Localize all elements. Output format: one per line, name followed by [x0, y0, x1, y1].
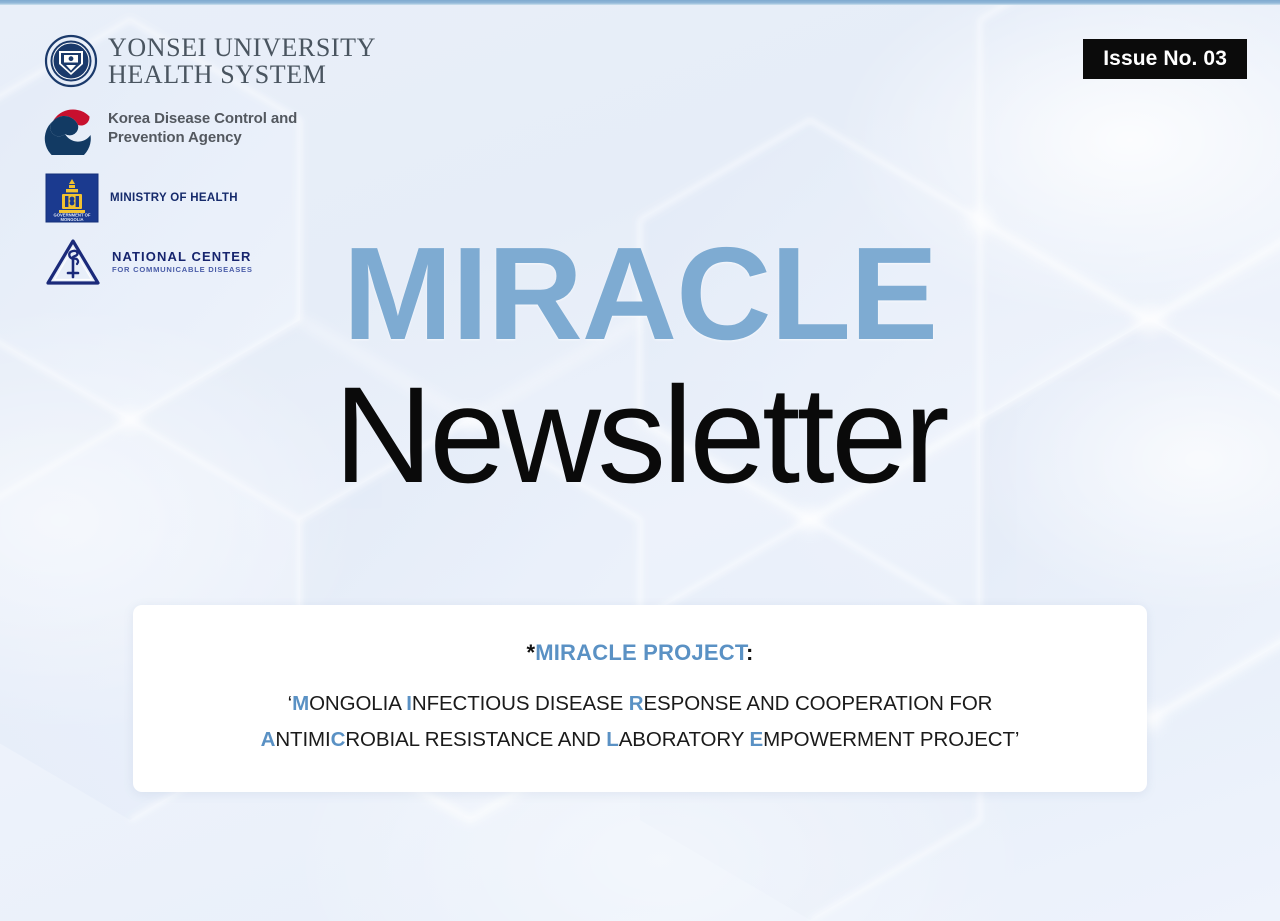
yonsei-line-2: HEALTH SYSTEM	[108, 60, 326, 89]
svg-text:MONGOLIA: MONGOLIA	[60, 217, 83, 222]
ministry-of-health-wordmark: MINISTRY OF HEALTH	[110, 192, 238, 204]
yonsei-university-seal-icon	[44, 34, 98, 88]
logo-row-yonsei: YONSEI UNIVERSITY HEALTH SYSTEM	[44, 30, 464, 92]
nccd-wordmark: NATIONAL CENTER FOR COMMUNICABLE DISEASE…	[112, 250, 253, 274]
kdca-wordmark: Korea Disease Control and Prevention Age…	[108, 110, 297, 148]
partner-logo-stack: YONSEI UNIVERSITY HEALTH SYSTEM Korea Di…	[44, 30, 464, 290]
korea-disease-control-taegeuk-icon	[44, 103, 98, 155]
national-center-for-communicable-diseases-icon	[44, 237, 102, 287]
project-definition-card: *MIRACLE PROJECT: ‘MONGOLIA INFECTIOUS D…	[133, 605, 1147, 792]
issue-number-badge: Issue No. 03	[1083, 39, 1247, 79]
government-of-mongolia-soyombo-icon: GOVERNMENT OF MONGOLIA	[44, 173, 100, 223]
project-name-highlight: MIRACLE PROJECT	[535, 640, 746, 665]
nccd-line-2: FOR COMMUNICABLE DISEASES	[112, 265, 253, 274]
kdca-line-1: Korea Disease Control and	[108, 110, 297, 127]
newsletter-cover-page: Issue No. 03 YONSEI UNIVERSITY HEALTH SY…	[0, 0, 1280, 921]
nccd-line-1: NATIONAL CENTER	[112, 250, 253, 265]
kdca-line-2: Prevention Agency	[108, 129, 242, 146]
yonsei-wordmark: YONSEI UNIVERSITY HEALTH SYSTEM	[108, 34, 376, 88]
yonsei-line-1: YONSEI UNIVERSITY	[108, 33, 376, 62]
project-definition-heading: *MIRACLE PROJECT:	[526, 640, 753, 666]
project-definition-line-1: ‘MONGOLIA INFECTIOUS DISEASE RESPONSE AN…	[288, 686, 993, 721]
logo-row-national-center-communicable-diseases: NATIONAL CENTER FOR COMMUNICABLE DISEASE…	[44, 234, 464, 290]
project-definition-line-2: ANTIMICROBIAL RESISTANCE AND LABORATORY …	[261, 722, 1020, 757]
top-accent-bar	[0, 0, 1280, 5]
logo-row-kdca: Korea Disease Control and Prevention Age…	[44, 98, 464, 160]
logo-row-ministry-of-health-mongolia: GOVERNMENT OF MONGOLIA MINISTRY OF HEALT…	[44, 170, 464, 226]
